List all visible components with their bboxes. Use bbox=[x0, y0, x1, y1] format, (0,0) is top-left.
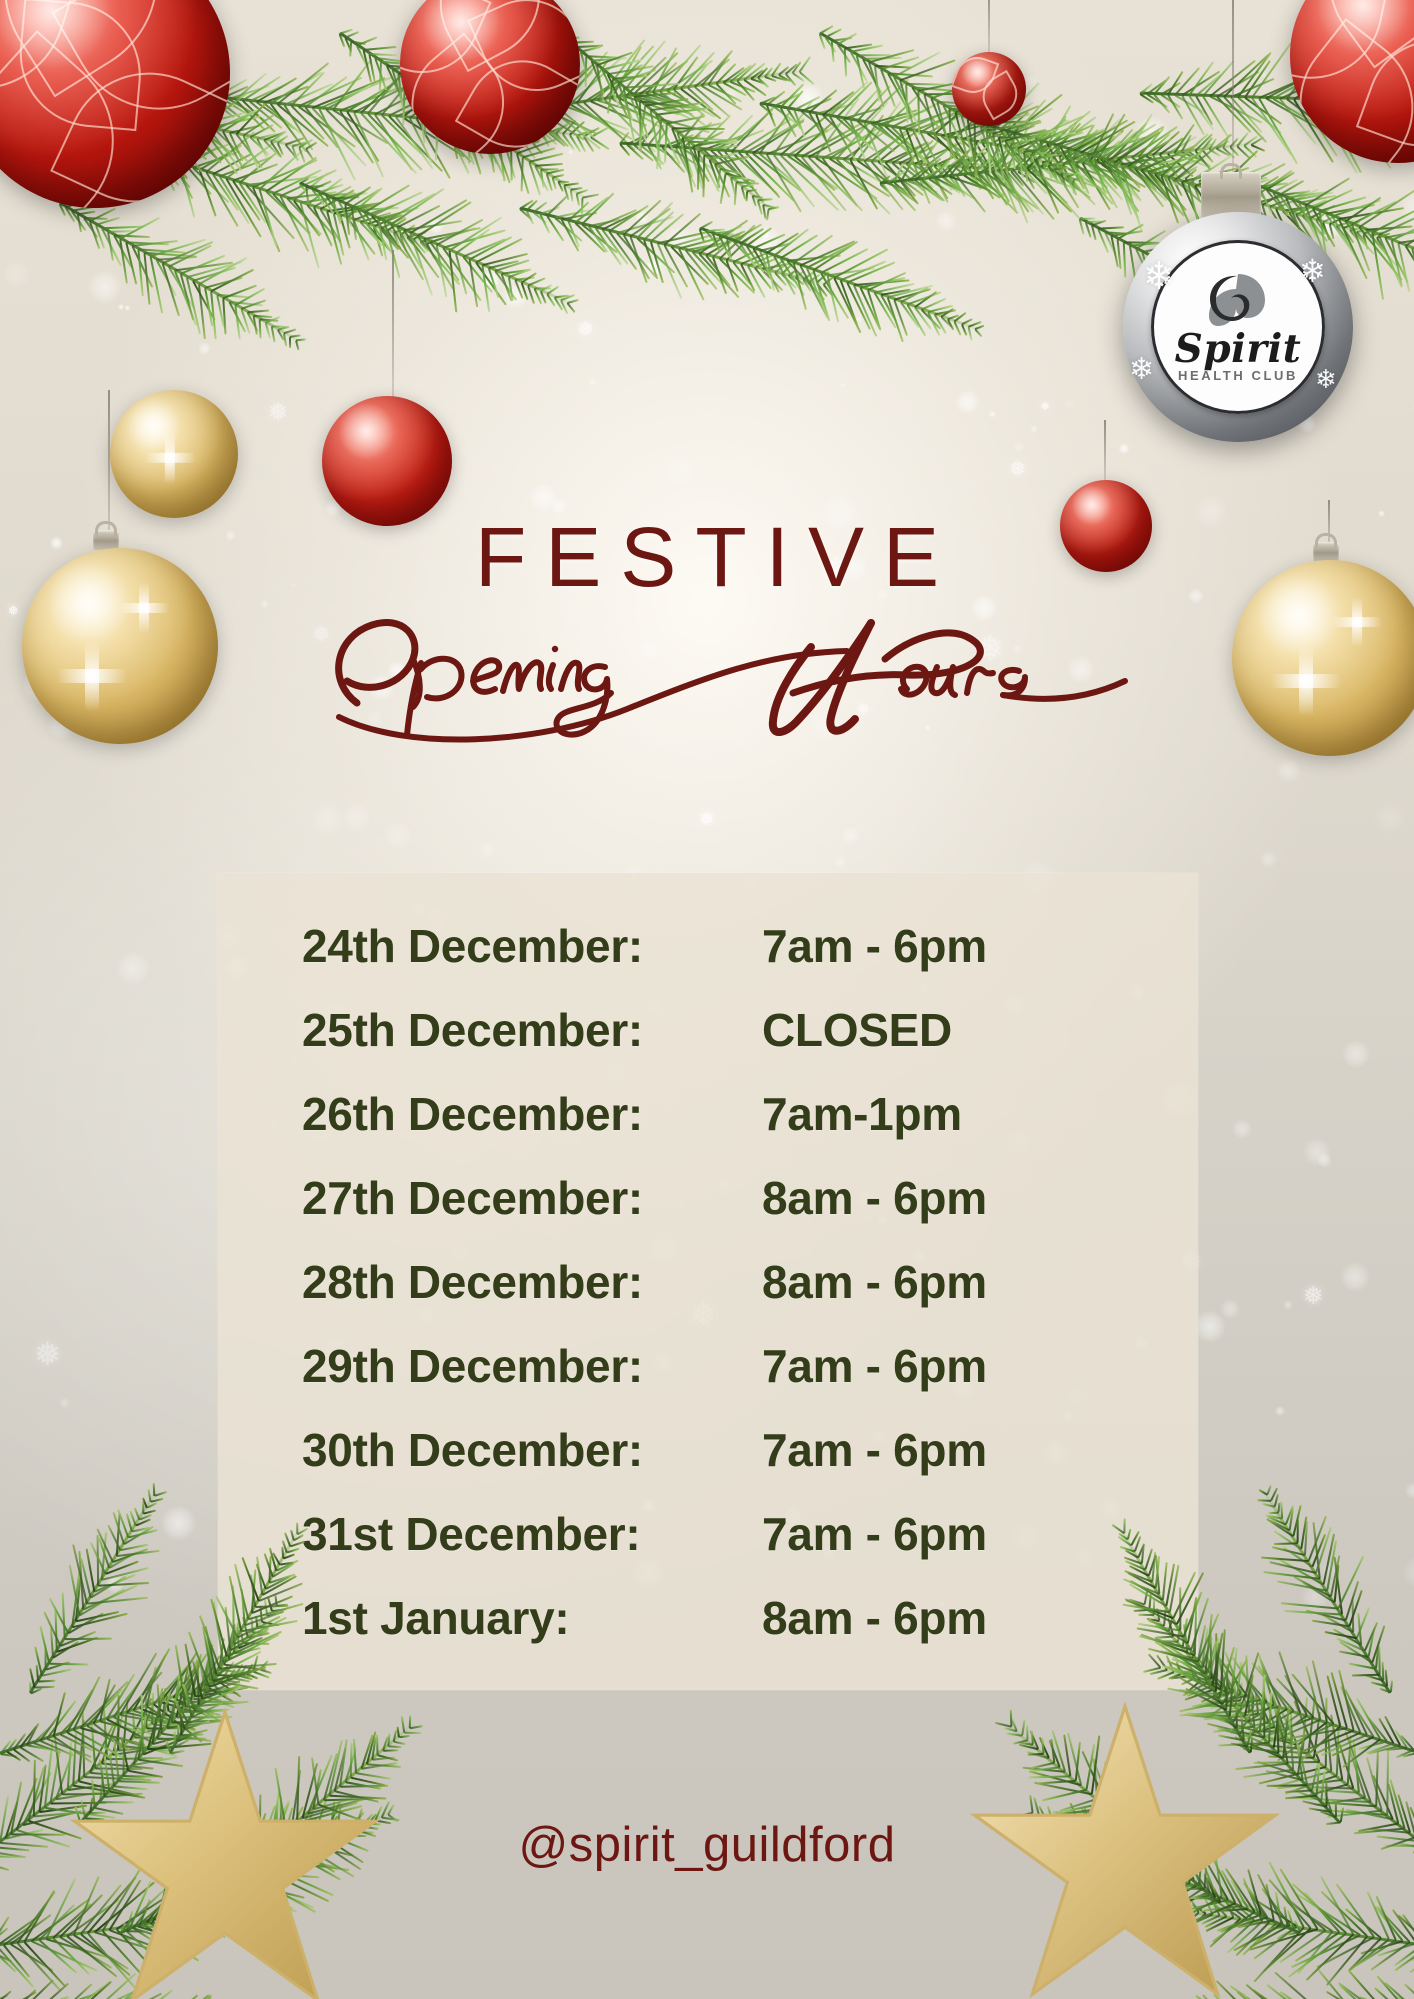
pine-needle bbox=[179, 274, 194, 321]
pine-needle bbox=[849, 51, 867, 81]
pine-needle bbox=[780, 84, 805, 109]
pine-needle bbox=[1097, 160, 1147, 188]
pine-needle bbox=[10, 1914, 52, 1945]
bauble-gloss bbox=[1060, 480, 1152, 572]
bokeh-dot bbox=[1220, 1299, 1240, 1319]
pine-needle bbox=[1114, 166, 1130, 199]
bokeh-dot bbox=[1194, 1310, 1226, 1342]
bokeh-dot bbox=[1340, 1262, 1370, 1292]
pine-needle bbox=[1323, 1614, 1354, 1633]
pine-needle bbox=[687, 61, 711, 89]
pine-needle bbox=[829, 120, 891, 160]
opening-hours-row: 26th December:7am-1pm bbox=[218, 1087, 1198, 1171]
pine-needle bbox=[688, 141, 737, 145]
pine-needle bbox=[264, 131, 286, 141]
pine-needle bbox=[1291, 1934, 1361, 1968]
pine-needle bbox=[671, 231, 723, 248]
red-bauble-small-top bbox=[952, 52, 1026, 126]
pine-needle bbox=[332, 196, 359, 200]
pine-needle bbox=[738, 119, 791, 154]
pine-needle bbox=[739, 243, 756, 267]
pine-needle bbox=[1376, 237, 1385, 250]
bokeh-dot bbox=[50, 536, 63, 549]
pine-needle bbox=[1366, 1757, 1383, 1811]
pine-needle bbox=[1052, 141, 1097, 157]
pine-needle bbox=[1300, 1516, 1307, 1549]
pine-needle bbox=[246, 185, 296, 240]
pine-needle bbox=[298, 147, 306, 163]
pine-needle bbox=[913, 164, 961, 194]
pine-needle bbox=[743, 79, 766, 97]
pine-needle bbox=[33, 1722, 55, 1744]
pine-needle bbox=[787, 108, 802, 129]
opening-hours-row: 24th December:7am - 6pm bbox=[218, 919, 1198, 1003]
pine-needle bbox=[117, 1509, 130, 1538]
pine-needle bbox=[1122, 242, 1126, 277]
pine-needle bbox=[1215, 148, 1229, 157]
pine-needle bbox=[825, 29, 842, 39]
pine-needle bbox=[546, 194, 569, 217]
pine-needle bbox=[413, 229, 430, 241]
pine-needle bbox=[1345, 197, 1382, 223]
pine-needle bbox=[907, 304, 927, 336]
pine-needle bbox=[733, 262, 752, 286]
pine-needle bbox=[570, 187, 582, 191]
pine-needle bbox=[523, 147, 556, 159]
pine-needle bbox=[714, 164, 731, 198]
pine-needle bbox=[295, 340, 300, 351]
pine-needle bbox=[873, 292, 896, 328]
pine-needle bbox=[595, 209, 638, 229]
pine-needle bbox=[919, 138, 941, 166]
pine-needle bbox=[333, 204, 376, 215]
pine-needle bbox=[173, 270, 197, 326]
pine-needle bbox=[186, 1697, 206, 1702]
pine-needle bbox=[346, 188, 382, 219]
pine-needle bbox=[553, 217, 581, 242]
pine-needle bbox=[256, 77, 298, 103]
snowflake-icon: ❄ bbox=[1315, 364, 1337, 395]
pine-needle bbox=[20, 1747, 44, 1763]
pine-needle bbox=[166, 1652, 198, 1701]
bokeh-dot bbox=[1399, 189, 1414, 225]
pine-needle bbox=[1304, 1521, 1308, 1555]
pine-needle bbox=[1170, 161, 1188, 177]
pine-needle bbox=[1111, 230, 1143, 237]
pine-needle bbox=[720, 168, 742, 175]
pine-needle bbox=[643, 240, 658, 279]
pine-needle bbox=[806, 241, 857, 269]
pine-needle bbox=[982, 156, 997, 170]
pine-needle bbox=[862, 58, 883, 94]
pine-needle bbox=[259, 318, 278, 322]
pine-needle bbox=[659, 44, 702, 93]
pine-needle bbox=[1163, 175, 1174, 194]
pine-needle bbox=[836, 117, 876, 152]
bokeh-dot bbox=[1283, 1300, 1293, 1310]
pine-needle bbox=[413, 239, 427, 254]
pine-needle bbox=[44, 1611, 62, 1646]
pine-needle bbox=[808, 119, 876, 158]
pine-needle bbox=[970, 149, 1004, 175]
pine-needle bbox=[647, 146, 663, 171]
snowflake-icon: ❅ bbox=[1009, 457, 1027, 482]
pine-needle bbox=[1010, 161, 1028, 172]
pine-needle bbox=[950, 176, 991, 192]
pine-needle bbox=[546, 294, 555, 307]
pine-needle bbox=[984, 172, 1038, 210]
pine-needle bbox=[358, 207, 399, 211]
pine-needle bbox=[655, 114, 681, 165]
pine-needle bbox=[21, 1979, 54, 1999]
pine-needle bbox=[1394, 1944, 1414, 1972]
pine-needle bbox=[982, 169, 993, 186]
pine-needle bbox=[698, 219, 748, 255]
pine-needle bbox=[975, 142, 1011, 203]
pine-needle bbox=[1335, 1800, 1338, 1817]
pine-needle bbox=[1104, 232, 1117, 256]
pine-needle bbox=[846, 282, 871, 330]
pine-needle bbox=[588, 219, 620, 228]
bokeh-dot bbox=[384, 821, 413, 850]
pine-needle bbox=[353, 112, 384, 178]
pine-needle bbox=[596, 65, 605, 103]
pine-needle bbox=[709, 152, 739, 161]
pine-needle bbox=[622, 234, 650, 279]
pine-needle bbox=[557, 181, 564, 192]
pine-needle bbox=[126, 241, 169, 245]
pine-needle bbox=[1138, 156, 1170, 179]
pine-needle bbox=[1073, 175, 1086, 182]
pine-needle bbox=[975, 157, 992, 170]
spirit-logo-bauble: ❄ ❄ ❄ ❄ Spirit HEALTH CLUB bbox=[1123, 212, 1353, 442]
pine-needle bbox=[907, 292, 941, 306]
pine-needle bbox=[535, 163, 563, 167]
pine-needle bbox=[1039, 141, 1053, 179]
pine-needle bbox=[270, 141, 283, 158]
pine-needle bbox=[1107, 165, 1139, 200]
pine-needle bbox=[1294, 1700, 1321, 1762]
pine-needle bbox=[698, 229, 705, 244]
pine-needle bbox=[975, 168, 990, 184]
pine-needle bbox=[736, 181, 759, 185]
pine-needle bbox=[206, 1631, 211, 1680]
pine-needle bbox=[304, 107, 339, 149]
pine-needle bbox=[46, 1661, 70, 1671]
pine-needle bbox=[97, 1528, 115, 1562]
pine-needle bbox=[98, 1582, 149, 1587]
pine-needle bbox=[871, 123, 912, 153]
pine-needle bbox=[694, 86, 730, 117]
pine-needle bbox=[1334, 1565, 1340, 1603]
pine-needle bbox=[44, 1737, 54, 1808]
pine-needle bbox=[948, 109, 952, 159]
pine-needle bbox=[1292, 192, 1334, 202]
pine-needle bbox=[50, 1663, 89, 1666]
pine-needle bbox=[283, 329, 296, 335]
pine-needle bbox=[1206, 1668, 1228, 1690]
pine-needle bbox=[126, 1513, 134, 1532]
pine-needle bbox=[1149, 172, 1163, 187]
pine-needle bbox=[772, 255, 795, 295]
pine-needle bbox=[1397, 243, 1410, 292]
pine-needle bbox=[1251, 42, 1293, 99]
pine-needle bbox=[0, 1927, 8, 1949]
pine-needle bbox=[351, 189, 380, 209]
pine-needle bbox=[1370, 231, 1384, 237]
pine-needle bbox=[602, 210, 642, 231]
pine-needle bbox=[982, 143, 1030, 213]
pine-needle bbox=[409, 233, 433, 296]
pine-needle bbox=[1358, 1740, 1387, 1750]
pine-needle bbox=[1321, 1733, 1368, 1756]
pine-needle bbox=[864, 127, 917, 163]
pine-needle bbox=[871, 117, 922, 163]
pine-needle bbox=[906, 83, 945, 86]
pine-needle bbox=[292, 172, 328, 201]
pine-needle bbox=[325, 195, 344, 221]
pine-needle bbox=[1116, 239, 1121, 269]
pine-needle bbox=[1013, 125, 1035, 135]
pine-needle bbox=[843, 107, 881, 120]
pine-needle bbox=[1348, 1662, 1376, 1670]
pine-needle bbox=[98, 1537, 111, 1568]
pine-needle bbox=[640, 121, 659, 147]
pine-needle bbox=[553, 297, 563, 311]
pine-needle bbox=[970, 174, 1006, 198]
pine-needle bbox=[1358, 227, 1403, 282]
opening-hours-time: 7am - 6pm bbox=[682, 1423, 987, 1477]
pine-needle bbox=[836, 81, 873, 118]
pine-needle bbox=[647, 124, 665, 147]
pine-needle bbox=[71, 210, 87, 231]
pine-needle bbox=[192, 1661, 204, 1699]
pine-needle bbox=[638, 106, 646, 149]
pine-needle bbox=[1010, 148, 1068, 205]
pine-needle bbox=[1010, 145, 1016, 170]
pine-needle bbox=[788, 269, 798, 277]
pine-needle bbox=[996, 146, 1028, 224]
bauble-string bbox=[108, 390, 110, 540]
pine-needle bbox=[881, 289, 911, 297]
pine-needle bbox=[353, 204, 394, 221]
pine-needle bbox=[1297, 1732, 1306, 1775]
pine-needle bbox=[863, 57, 903, 60]
bokeh-dot bbox=[161, 1505, 196, 1540]
pine-needle bbox=[832, 37, 853, 42]
pine-needle bbox=[186, 1659, 199, 1694]
pine-needle bbox=[809, 274, 820, 283]
pine-needle bbox=[259, 149, 304, 190]
pine-needle bbox=[886, 297, 903, 342]
pine-needle bbox=[14, 1989, 36, 1999]
pine-needle bbox=[1324, 1697, 1327, 1766]
pine-needle bbox=[779, 258, 805, 297]
pine-needle bbox=[406, 237, 421, 253]
pine-needle bbox=[1154, 159, 1200, 176]
pine-needle bbox=[708, 159, 721, 188]
snowflake-icon: ❄ bbox=[1299, 252, 1326, 290]
pine-needle bbox=[284, 144, 299, 161]
pine-needle bbox=[1302, 1581, 1335, 1603]
pine-needle bbox=[1307, 1786, 1354, 1790]
pine-needle bbox=[319, 189, 355, 210]
pine-needle bbox=[837, 44, 851, 64]
pine-needle bbox=[469, 236, 513, 261]
pine-needle bbox=[125, 242, 137, 284]
snowflake-icon: ❅ bbox=[8, 603, 19, 619]
pine-needle bbox=[26, 1722, 40, 1746]
bokeh-dot bbox=[1267, 198, 1286, 217]
pine-needle bbox=[751, 196, 757, 207]
pine-needle bbox=[1343, 221, 1360, 229]
bokeh-dot bbox=[198, 342, 211, 355]
pine-needle bbox=[429, 241, 460, 281]
pine-needle bbox=[393, 227, 406, 234]
pine-needle bbox=[139, 1655, 166, 1709]
pine-needle bbox=[857, 160, 918, 204]
bokeh-dot bbox=[1373, 802, 1405, 834]
pine-needle bbox=[934, 309, 956, 316]
pine-needle bbox=[1206, 1641, 1217, 1674]
pine-needle bbox=[708, 54, 730, 86]
pine-needle bbox=[1330, 1715, 1344, 1780]
pine-needle bbox=[475, 238, 522, 264]
pine-needle bbox=[940, 316, 952, 328]
pine-needle bbox=[979, 126, 998, 174]
pine-needle bbox=[1031, 124, 1093, 153]
pine-needle bbox=[488, 260, 519, 269]
pine-needle bbox=[1040, 122, 1081, 168]
pine-needle bbox=[132, 1648, 170, 1711]
pine-needle bbox=[533, 202, 548, 214]
pine-needle bbox=[739, 228, 764, 245]
pine-needle bbox=[1157, 168, 1171, 175]
pine-needle bbox=[198, 257, 248, 286]
pine-needle bbox=[768, 206, 779, 210]
pine-needle bbox=[1120, 164, 1143, 231]
pine-needle bbox=[286, 198, 322, 236]
pine-needle bbox=[664, 213, 701, 246]
pine-needle bbox=[1324, 1631, 1357, 1640]
bokeh-dot bbox=[551, 498, 568, 515]
pine-needle bbox=[38, 1680, 55, 1683]
pine-needle bbox=[1283, 1546, 1313, 1567]
pine-needle bbox=[1022, 152, 1028, 182]
pine-needle bbox=[714, 155, 750, 165]
opening-hours-day: 25th December: bbox=[302, 1003, 682, 1057]
pine-needle bbox=[1409, 1946, 1414, 1974]
pine-needle bbox=[270, 130, 287, 142]
pine-needle bbox=[1080, 121, 1136, 155]
pine-needle bbox=[210, 269, 253, 293]
pine-needle bbox=[232, 180, 261, 221]
pine-needle bbox=[13, 1749, 31, 1763]
snowflake-icon: ❅ bbox=[481, 267, 500, 294]
pine-needle bbox=[860, 277, 905, 289]
pine-needle bbox=[954, 138, 995, 200]
pine-needle bbox=[462, 238, 505, 258]
pine-needle bbox=[1140, 170, 1184, 217]
pine-needle bbox=[1289, 200, 1328, 214]
pine-needle bbox=[1368, 1744, 1400, 1754]
pine-needle bbox=[420, 239, 433, 243]
pine-needle bbox=[1319, 196, 1367, 212]
pine-needle bbox=[114, 234, 150, 238]
pine-needle bbox=[1386, 1750, 1389, 1815]
bokeh-dot bbox=[479, 841, 496, 858]
opening-hours-row: 27th December:8am - 6pm bbox=[218, 1171, 1198, 1255]
pine-needle bbox=[926, 165, 948, 200]
pine-needle bbox=[325, 109, 363, 147]
pine-needle bbox=[1061, 172, 1076, 176]
pine-needle bbox=[860, 287, 882, 329]
pine-needle bbox=[1305, 1666, 1321, 1720]
pine-needle bbox=[1398, 235, 1414, 245]
pine-needle bbox=[1232, 1657, 1262, 1701]
pine-needle bbox=[42, 1668, 72, 1676]
pine-needle bbox=[650, 242, 664, 284]
pine-needle bbox=[199, 170, 217, 217]
spirit-swirl-icon bbox=[1207, 271, 1269, 333]
pine-needle bbox=[1011, 138, 1036, 146]
pine-needle bbox=[613, 75, 648, 80]
pine-needle bbox=[1345, 1582, 1360, 1621]
pine-needle bbox=[561, 212, 597, 221]
pine-needle bbox=[746, 227, 773, 247]
pine-needle bbox=[947, 167, 966, 198]
pine-needle bbox=[1005, 120, 1032, 172]
pine-needle bbox=[773, 101, 814, 156]
pine-needle bbox=[1100, 158, 1139, 212]
pine-needle bbox=[1211, 1632, 1224, 1686]
pine-needle bbox=[1082, 135, 1116, 164]
pine-needle bbox=[935, 157, 961, 179]
pine-needle bbox=[1114, 132, 1161, 164]
bokeh-dot bbox=[856, 316, 862, 322]
pine-needle bbox=[1375, 1896, 1397, 1941]
pine-needle bbox=[905, 130, 926, 181]
pine-needle bbox=[107, 232, 114, 261]
pine-needle bbox=[1331, 216, 1358, 261]
pine-needle bbox=[1110, 236, 1119, 268]
pine-needle bbox=[629, 208, 671, 238]
pine-needle bbox=[787, 155, 838, 190]
pine-needle bbox=[699, 221, 713, 230]
pine-needle bbox=[917, 91, 920, 135]
pine-needle bbox=[495, 259, 530, 272]
pine-needle bbox=[1153, 76, 1170, 95]
pine-needle bbox=[129, 1510, 137, 1526]
pine-needle bbox=[586, 55, 617, 59]
pine-needle bbox=[940, 146, 963, 167]
pine-needle bbox=[666, 60, 713, 92]
snowflake-icon: ❄ bbox=[1143, 254, 1175, 299]
pine-needle bbox=[567, 299, 579, 304]
pine-needle bbox=[576, 129, 594, 137]
pine-needle bbox=[135, 1519, 151, 1528]
pine-needle bbox=[290, 105, 324, 140]
pine-needle bbox=[277, 326, 289, 331]
pine-needle bbox=[562, 120, 577, 136]
pine-needle bbox=[312, 77, 386, 109]
pine-needle bbox=[186, 261, 242, 279]
pine-needle bbox=[340, 87, 399, 112]
bokeh-dot bbox=[989, 410, 996, 417]
pine-needle bbox=[801, 111, 828, 133]
pine-needle bbox=[121, 1543, 149, 1551]
pine-needle bbox=[340, 206, 373, 216]
